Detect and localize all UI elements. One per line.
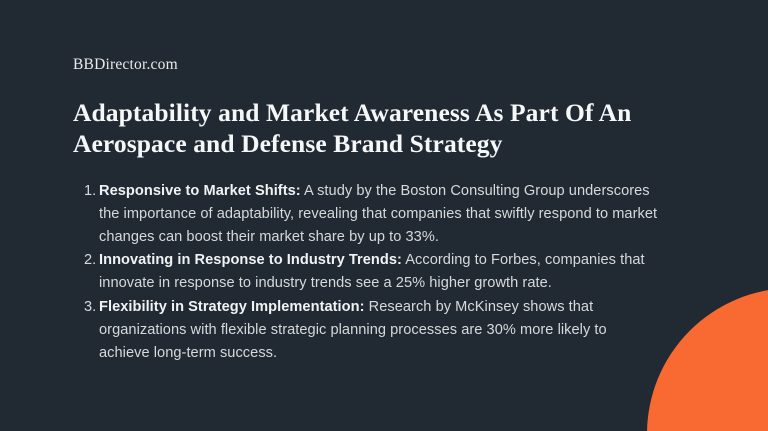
list-item: 3.Flexibility in Strategy Implementation… — [73, 296, 658, 366]
brand-logo-text: BBDirector.com — [73, 56, 673, 75]
list-item-number: 1. — [84, 180, 96, 203]
list-item: 1.Responsive to Market Shifts: A study b… — [73, 180, 658, 250]
list-item-number: 2. — [84, 249, 96, 272]
list-item: 2.Innovating in Response to Industry Tre… — [73, 249, 658, 295]
key-points-list: 1.Responsive to Market Shifts: A study b… — [73, 180, 658, 366]
slide-content: BBDirector.com Adaptability and Market A… — [73, 0, 673, 365]
list-item-number: 3. — [84, 296, 96, 319]
list-item-lead: Innovating in Response to Industry Trend… — [99, 252, 402, 268]
page-title: Adaptability and Market Awareness As Par… — [73, 97, 683, 159]
slide-canvas: BBDirector.com Adaptability and Market A… — [0, 0, 768, 431]
list-item-lead: Responsive to Market Shifts: — [99, 183, 301, 199]
list-item-lead: Flexibility in Strategy Implementation: — [99, 299, 365, 315]
